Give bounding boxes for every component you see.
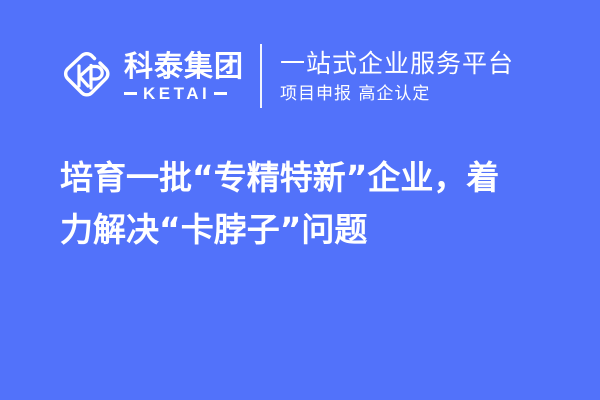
banner-header: 科泰集团 KETAI 一站式企业服务平台 项目申报 高企认定 xyxy=(0,34,600,118)
wordmark-left-rule-icon xyxy=(124,92,137,95)
brand-name-en: KETAI xyxy=(137,85,214,103)
slogan-secondary: 项目申报 高企认定 xyxy=(280,84,514,104)
headline: 培育一批“专精特新”企业，着 力解决“卡脖子”问题 xyxy=(60,152,560,256)
vertical-divider-icon xyxy=(260,44,262,108)
brand-wordmark: 科泰集团 KETAI xyxy=(124,50,244,103)
brand-logo[interactable]: 科泰集团 KETAI xyxy=(58,48,244,104)
headline-line-1: 培育一批“专精特新”企业，着 xyxy=(60,152,560,204)
promo-banner: 科泰集团 KETAI 一站式企业服务平台 项目申报 高企认定 培育一批“专精特新… xyxy=(0,0,600,400)
ketai-diamond-kp-logo-icon xyxy=(58,48,114,104)
wordmark-right-rule-icon xyxy=(214,92,227,95)
headline-line-2: 力解决“卡脖子”问题 xyxy=(60,204,560,256)
header-slogan: 一站式企业服务平台 项目申报 高企认定 xyxy=(280,49,514,104)
brand-name-en-row: KETAI xyxy=(124,85,244,103)
brand-name-cn: 科泰集团 xyxy=(124,50,244,82)
slogan-primary: 一站式企业服务平台 xyxy=(280,49,514,78)
